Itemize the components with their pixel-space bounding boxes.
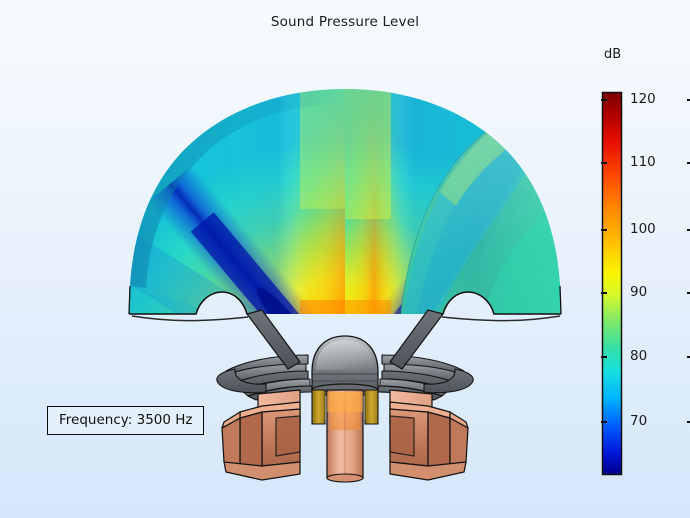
plot-window: Sound Pressure Level [0,0,690,518]
dome-diaphragm [312,336,378,396]
colorbar-tick-label: 90 [630,284,647,300]
gap-glow [327,392,363,412]
colorbar-tick-label: 70 [630,413,647,429]
compression-driver-model [217,310,473,482]
colorbar-tick-label: 120 [630,91,656,107]
colorbar-unit-label: dB [604,47,664,62]
colorbar-tick-label: 80 [630,348,647,364]
colorbar-tick-label: 110 [630,154,656,170]
domain-bottom-edge [132,316,560,321]
frequency-annotation: Frequency: 3500 Hz [47,406,204,435]
colorbar-tick-label: 100 [630,221,656,237]
colorbar-ticks: 120110100908070 [602,92,690,475]
acoustic-field-plot[interactable] [0,0,690,518]
